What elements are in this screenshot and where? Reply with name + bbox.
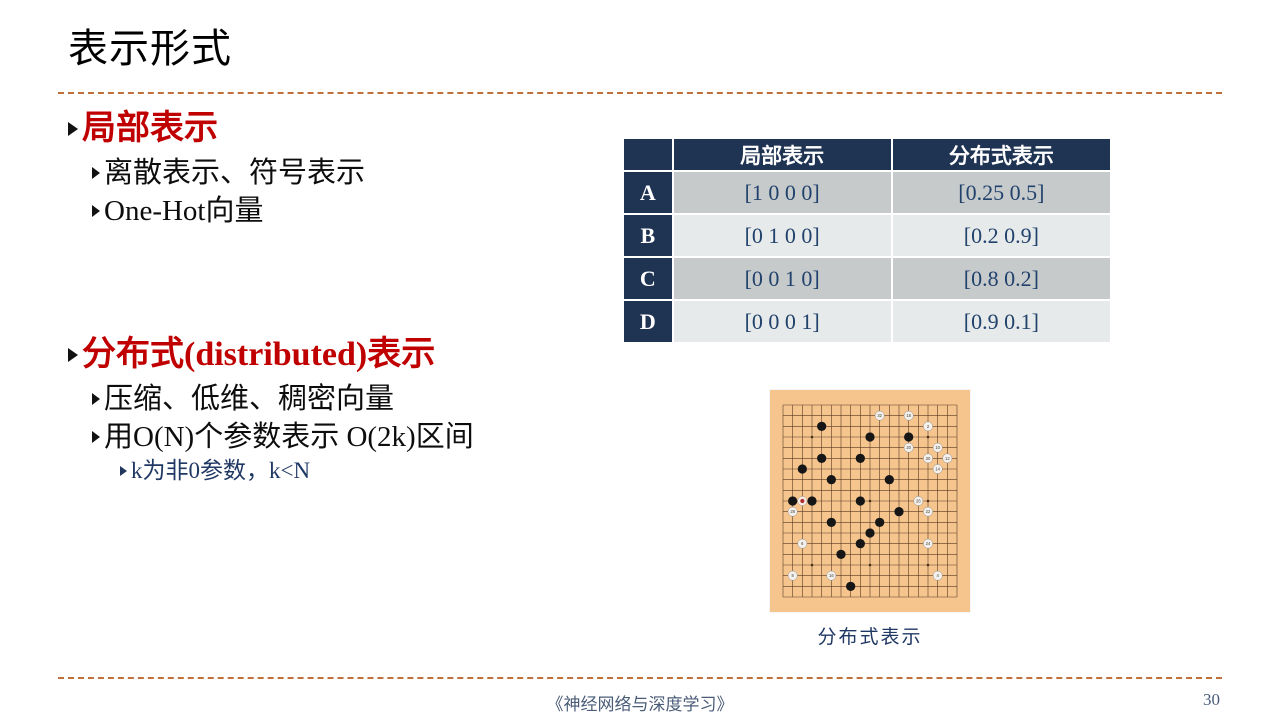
page-title: 表示形式 [68, 26, 232, 72]
triangle-right-icon [92, 431, 100, 443]
bullet-level1-local-label: 局部表示 [82, 110, 218, 147]
table-header-local: 局部表示 [674, 139, 891, 170]
svg-text:16: 16 [829, 573, 834, 578]
bullet-level2-compressed-label: 压缩、低维、稠密向量 [104, 383, 394, 415]
bullet-level2-onehot: One-Hot向量 [92, 193, 628, 231]
row-label-d: D [624, 301, 672, 342]
svg-text:12: 12 [945, 456, 950, 461]
cell-b-distributed: [0.2 0.9] [893, 215, 1110, 256]
table-head: 局部表示 分布式表示 [624, 139, 1110, 170]
triangle-right-icon [92, 393, 100, 405]
svg-text:10: 10 [935, 445, 940, 450]
bullet-level3-knote-label: k为非0参数，k<N [131, 458, 310, 483]
cell-d-local: [0 0 0 1] [674, 301, 891, 342]
triangle-right-icon [120, 466, 127, 476]
cell-b-local: [0 1 0 0] [674, 215, 891, 256]
bullet-level2-params-label: 用O(N)个参数表示 O(2k)区间 [104, 421, 474, 453]
table-row: B [0 1 0 0] [0.2 0.9] [624, 215, 1110, 256]
bullet-level1-local: 局部表示 [68, 108, 628, 151]
title-divider [58, 92, 1222, 94]
cell-c-local: [0 0 1 0] [674, 258, 891, 299]
go-board-svg: 3218220103012142622286248164 [778, 400, 962, 602]
footer-book-title: 《神经网络与深度学习》 [0, 690, 1280, 715]
bullet-level1-distributed: 分布式(distributed)表示 [68, 334, 628, 377]
footer-divider [58, 677, 1222, 679]
svg-text:32: 32 [877, 413, 882, 418]
svg-text:20: 20 [906, 445, 911, 450]
svg-text:26: 26 [916, 499, 921, 504]
svg-text:30: 30 [926, 456, 931, 461]
bullet-list: 局部表示 离散表示、符号表示 One-Hot向量 分布式(distributed… [68, 108, 628, 486]
table-row: D [0 0 0 1] [0.9 0.1] [624, 301, 1110, 342]
bullet-level2-params: 用O(N)个参数表示 O(2k)区间 [92, 419, 628, 457]
triangle-right-icon [92, 167, 100, 179]
row-label-a: A [624, 172, 672, 213]
triangle-right-icon [68, 122, 78, 136]
cell-a-local: [1 0 0 0] [674, 172, 891, 213]
svg-text:24: 24 [926, 541, 931, 546]
row-label-b: B [624, 215, 672, 256]
go-board-image: 3218220103012142622286248164 [770, 390, 970, 612]
bullet-level2-discrete: 离散表示、符号表示 [92, 155, 628, 193]
bullet-level2-discrete-label: 离散表示、符号表示 [104, 157, 365, 189]
svg-text:28: 28 [790, 509, 795, 514]
svg-text:18: 18 [906, 413, 911, 418]
svg-text:14: 14 [935, 467, 940, 472]
table-corner-cell [624, 139, 672, 170]
table-row: C [0 0 1 0] [0.8 0.2] [624, 258, 1110, 299]
row-label-c: C [624, 258, 672, 299]
cell-d-distributed: [0.9 0.1] [893, 301, 1110, 342]
triangle-right-icon [68, 348, 78, 362]
representation-table: 局部表示 分布式表示 A [1 0 0 0] [0.25 0.5] B [0 1… [622, 137, 1112, 344]
table-header-distributed: 分布式表示 [893, 139, 1110, 170]
go-board-grid: 3218220103012142622286248164 [778, 400, 962, 602]
table-body: A [1 0 0 0] [0.25 0.5] B [0 1 0 0] [0.2 … [624, 172, 1110, 342]
bullet-group-local: 局部表示 离散表示、符号表示 One-Hot向量 [68, 108, 628, 230]
cell-c-distributed: [0.8 0.2] [893, 258, 1110, 299]
table-header-row: 局部表示 分布式表示 [624, 139, 1110, 170]
bullet-level1-distributed-label: 分布式(distributed)表示 [82, 336, 435, 373]
svg-text:22: 22 [926, 509, 931, 514]
footer-page-number: 30 [1203, 690, 1220, 710]
triangle-right-icon [92, 205, 100, 217]
bullet-level3-knote: k为非0参数，k<N [120, 456, 628, 486]
bullet-group-distributed: 分布式(distributed)表示 压缩、低维、稠密向量 用O(N)个参数表示… [68, 334, 628, 486]
table-row: A [1 0 0 0] [0.25 0.5] [624, 172, 1110, 213]
figure-caption: 分布式表示 [770, 622, 970, 649]
bullet-level2-compressed: 压缩、低维、稠密向量 [92, 381, 628, 419]
slide-root: 表示形式 局部表示 离散表示、符号表示 One-Hot向量 分布式(distri… [0, 0, 1280, 720]
bullet-level2-onehot-label: One-Hot向量 [104, 195, 263, 227]
cell-a-distributed: [0.25 0.5] [893, 172, 1110, 213]
